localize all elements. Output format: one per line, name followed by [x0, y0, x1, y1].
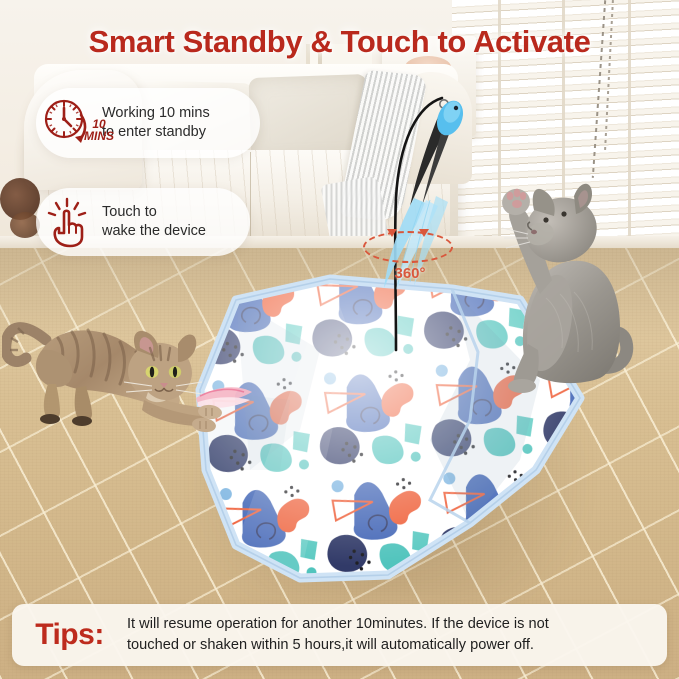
- tips-text: It will resume operation for another 10m…: [127, 614, 563, 655]
- rotation-arrow-icon: [419, 229, 429, 237]
- tips-line-2: touched or shaken within 5 hours,it will…: [127, 635, 549, 656]
- gray-kitten-right: [468, 158, 679, 428]
- feather-wand-toy: [370, 78, 490, 353]
- feature-badge-standby: 10 MINS Working 10 mins to enter standby: [36, 88, 260, 158]
- tips-panel: Tips: It will resume operation for anoth…: [12, 604, 667, 666]
- feature-badge-touch: Touch to wake the device: [36, 188, 250, 256]
- rotation-label: 360°: [355, 265, 465, 282]
- rotation-indicator: 360°: [355, 225, 465, 295]
- badge-line-2: wake the device: [102, 222, 206, 241]
- feature-badge-touch-text: Touch to wake the device: [102, 203, 214, 241]
- rotation-ellipse-icon: [363, 231, 453, 263]
- badge-line-1: Touch to: [102, 203, 206, 222]
- tips-line-1: It will resume operation for another 10m…: [127, 614, 549, 635]
- page-title: Smart Standby & Touch to Activate: [0, 24, 679, 60]
- product-feature-image: 360° Smart Standby & Touch to Activate: [0, 0, 679, 679]
- rotation-arrow-icon: [387, 229, 397, 237]
- clock-minutes-label: 10 MINS: [72, 118, 126, 152]
- tips-label: Tips:: [12, 618, 127, 652]
- tabby-kitten-left: [2, 288, 232, 463]
- touch-hand-icon: [36, 188, 102, 256]
